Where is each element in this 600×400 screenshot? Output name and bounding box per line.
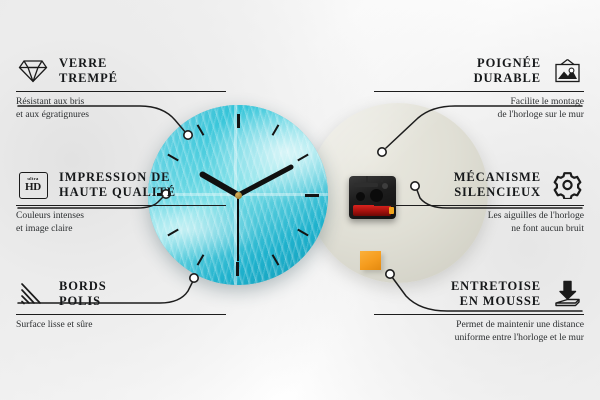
feature-impression-haute-qualite: ultra HD IMPRESSION DE HAUTE QUALITÉ Cou… [16,170,226,236]
divider [16,314,226,315]
connector-node [386,270,394,278]
feature-header: ultra HD IMPRESSION DE HAUTE QUALITÉ [16,170,226,200]
feature-description: Surface lisse et sûre [16,319,226,332]
feature-verre-trempe: VERRE TREMPÉ Résistant aux bris et aux é… [16,56,226,122]
divider [374,314,584,315]
divider [374,91,584,92]
feature-description: Couleurs intenses et image claire [16,210,226,236]
connector-node [378,148,386,156]
polished-edge-icon [16,279,50,309]
divider [16,205,226,206]
feature-mecanisme-silencieux: MÉCANISME SILENCIEUX Les aiguilles de l'… [374,170,584,236]
connector-node [184,131,192,139]
hd-label: HD [25,182,41,193]
divider [16,91,226,92]
feature-poignee-durable: POIGNÉE DURABLE Facilite le montage de l… [374,56,584,122]
feature-description: Les aiguilles de l'horloge ne font aucun… [374,210,584,236]
feature-title: IMPRESSION DE HAUTE QUALITÉ [59,170,176,200]
picture-hanger-icon [550,56,584,86]
feature-title: ENTRETOISE EN MOUSSE [451,279,541,309]
ultra-hd-icon: ultra HD [16,170,50,200]
feature-header: BORDS POLIS [16,279,226,309]
feature-title: POIGNÉE DURABLE [474,56,541,86]
feature-header: POIGNÉE DURABLE [374,56,584,86]
gear-icon [550,170,584,200]
feature-header: VERRE TREMPÉ [16,56,226,86]
diamond-icon [16,56,50,86]
arrow-down-pad-icon [550,279,584,309]
feature-title: VERRE TREMPÉ [59,56,118,86]
feature-header: ENTRETOISE EN MOUSSE [374,279,584,309]
divider [374,205,584,206]
feature-header: MÉCANISME SILENCIEUX [374,170,584,200]
feature-bords-polis: BORDS POLIS Surface lisse et sûre [16,279,226,332]
infographic-canvas: VERRE TREMPÉ Résistant aux bris et aux é… [0,0,600,400]
feature-title: MÉCANISME SILENCIEUX [454,170,541,200]
feature-title: BORDS POLIS [59,279,107,309]
feature-description: Facilite le montage de l'horloge sur le … [374,96,584,122]
feature-description: Permet de maintenir une distance uniform… [374,319,584,345]
feature-description: Résistant aux bris et aux égratignures [16,96,226,122]
feature-entretoise-en-mousse: ENTRETOISE EN MOUSSE Permet de maintenir… [374,279,584,345]
